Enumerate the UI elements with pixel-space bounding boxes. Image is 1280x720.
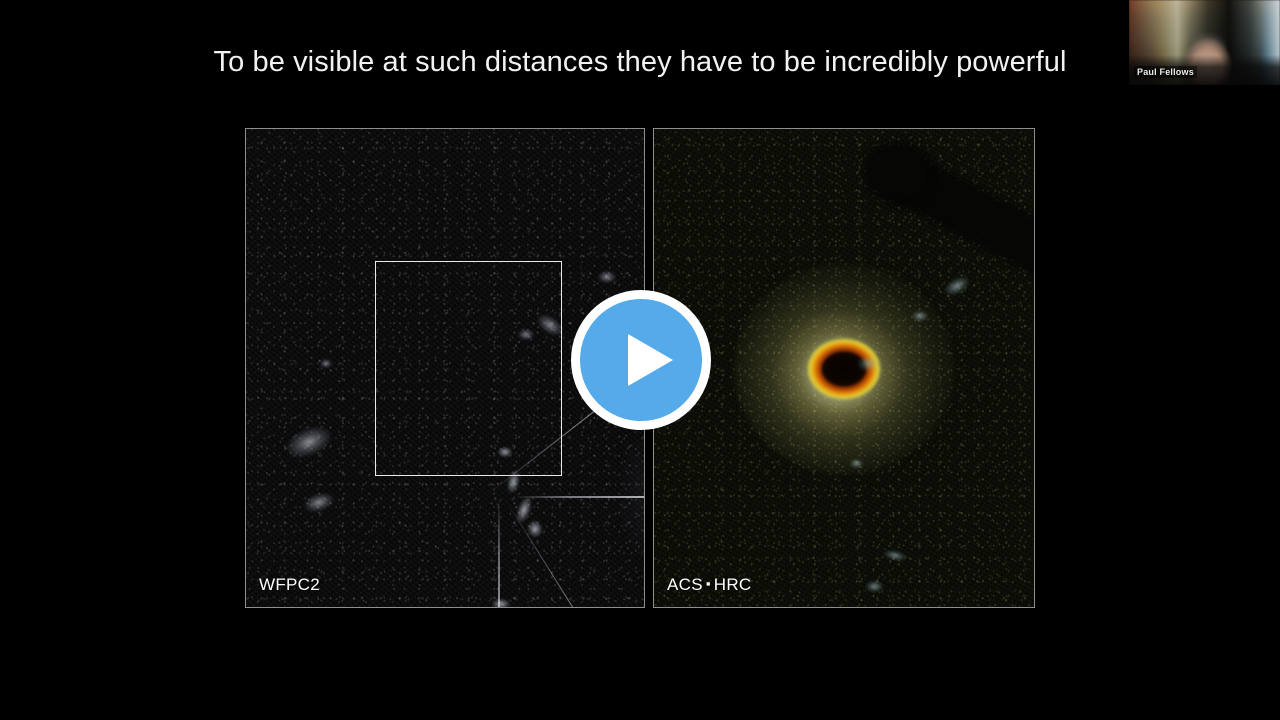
play-video-button[interactable]	[571, 290, 711, 430]
page-title: To be visible at such distances they hav…	[0, 46, 1280, 79]
panel-caption-acs-prefix: ACS	[667, 575, 703, 594]
presentation-slide: To be visible at such distances they hav…	[0, 0, 1280, 720]
webcam-thumbnail[interactable]: Paul Fellows	[1129, 0, 1280, 85]
webcam-participant-name: Paul Fellows	[1134, 66, 1197, 78]
bullet-separator-icon: ▪	[703, 576, 714, 591]
sky-background-colour	[654, 129, 1034, 607]
occulting-spot-highlight	[859, 357, 877, 370]
play-triangle-icon	[628, 334, 673, 386]
background-galaxy	[850, 459, 863, 468]
panel-caption-acs-hrc: ACS▪HRC	[667, 575, 752, 595]
panel-caption-hrc-suffix: HRC	[714, 575, 752, 594]
background-galaxy	[598, 271, 616, 283]
jet-filament-knot	[492, 599, 510, 608]
background-galaxy	[912, 311, 928, 321]
panel-caption-wfpc2: WFPC2	[259, 575, 320, 595]
inset-selection-box	[375, 261, 562, 476]
background-galaxy	[320, 359, 332, 368]
background-galaxy	[866, 581, 883, 592]
